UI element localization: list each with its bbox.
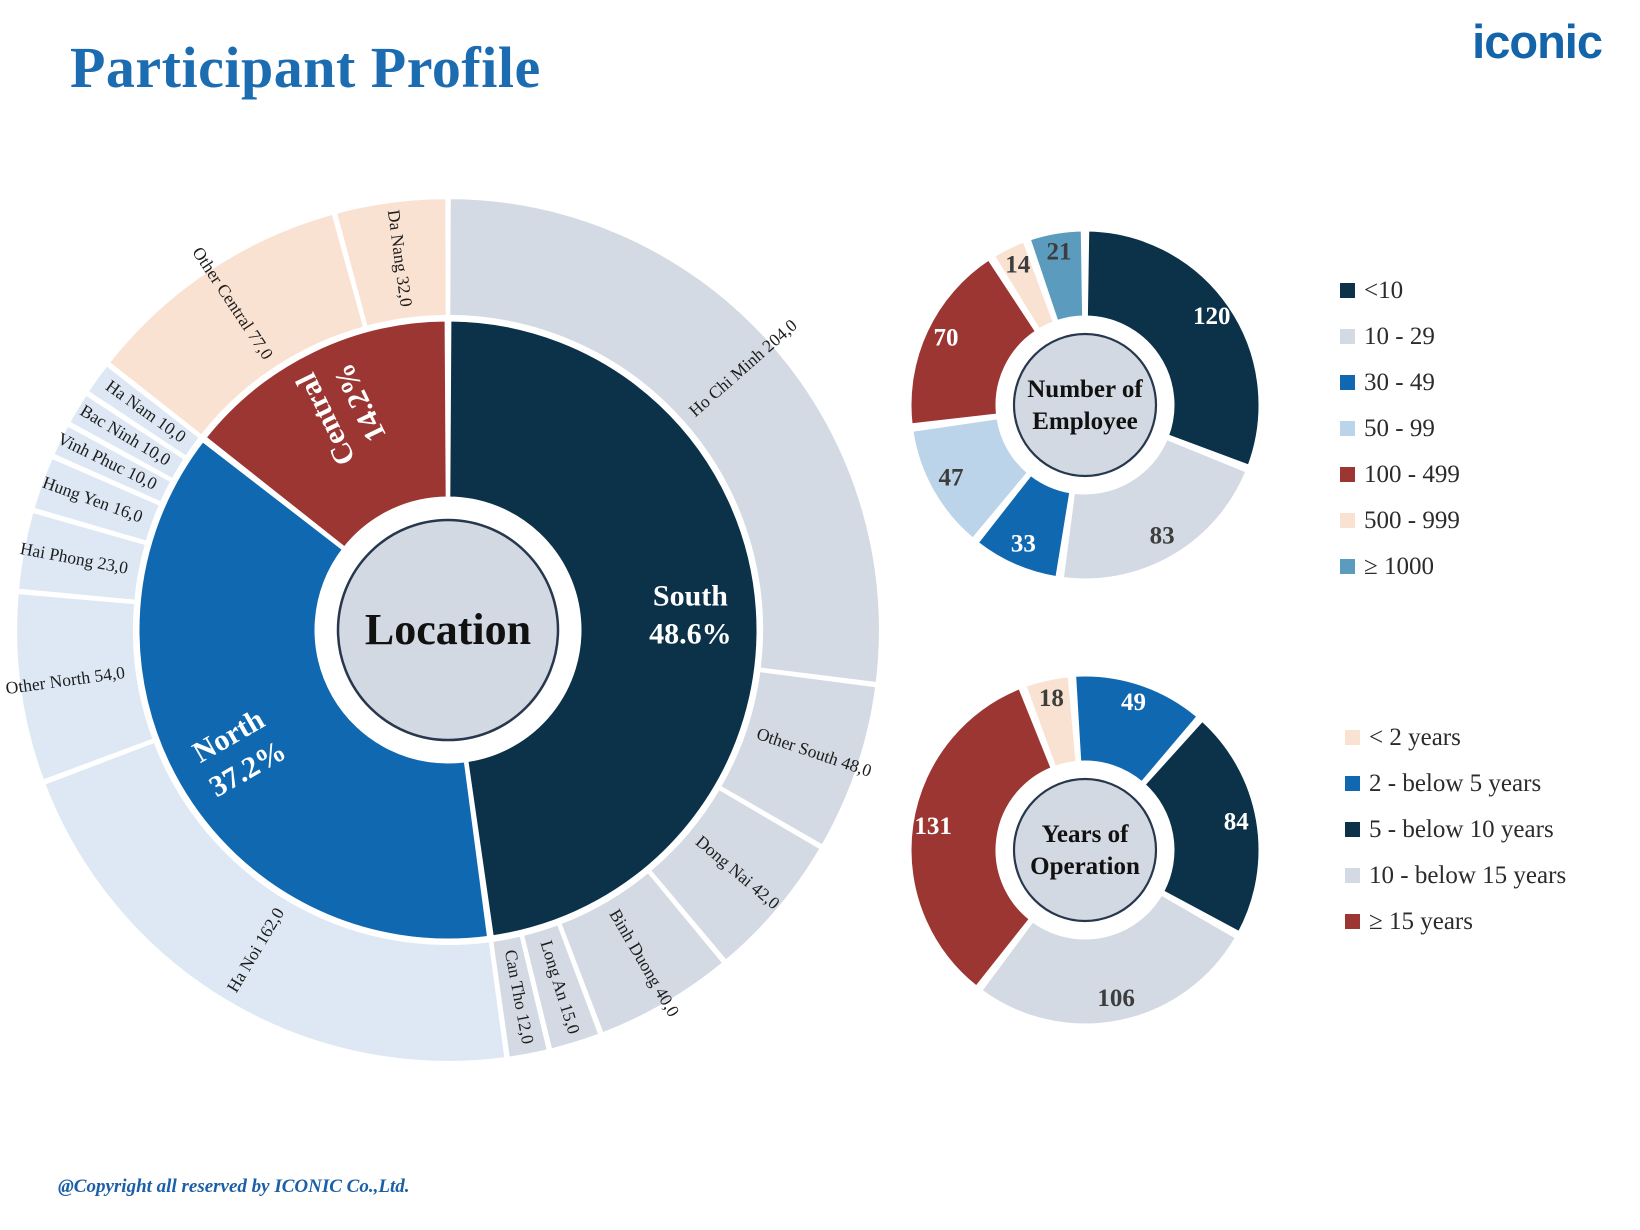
years-legend: < 2 years2 - below 5 years5 - below 10 y… — [1345, 725, 1566, 955]
donut-center-label-line2: Operation — [1030, 853, 1140, 880]
legend-item-label: 10 - below 15 years — [1369, 863, 1566, 888]
donut-value-label: 131 — [914, 813, 952, 840]
donut-value-label: 18 — [1039, 685, 1064, 712]
legend-item-label: 500 - 999 — [1364, 508, 1460, 533]
donut-center-label-line2: Employee — [1032, 408, 1138, 435]
legend-item-label: ≥ 1000 — [1364, 554, 1434, 579]
years-legend-item[interactable]: < 2 years — [1345, 725, 1566, 749]
employee-legend-item[interactable]: 10 - 29 — [1340, 324, 1460, 348]
legend-swatch-icon — [1345, 914, 1360, 929]
years-legend-item[interactable]: 2 - below 5 years — [1345, 771, 1566, 795]
years-legend-item[interactable]: 10 - below 15 years — [1345, 863, 1566, 887]
legend-swatch-icon — [1340, 467, 1355, 482]
copyright-note: @Copyright all reserved by ICONIC Co.,Lt… — [58, 1176, 409, 1198]
legend-item-label: ≥ 15 years — [1369, 909, 1473, 934]
legend-swatch-icon — [1340, 513, 1355, 528]
donut-hub — [1014, 334, 1156, 476]
donut-value-label: 70 — [933, 325, 958, 352]
legend-swatch-icon — [1345, 822, 1360, 837]
iconic-logo: iconic — [1472, 14, 1602, 69]
svg-text:South: South — [653, 579, 728, 612]
donut-value-label: 106 — [1097, 985, 1135, 1012]
donut-value-label: 33 — [1011, 530, 1036, 557]
donut-value-label: 120 — [1193, 303, 1231, 330]
employee-legend-item[interactable]: ≥ 1000 — [1340, 554, 1460, 578]
donut-value-label: 21 — [1047, 238, 1072, 265]
slide-root: Participant Profile iconic South48.6%Nor… — [0, 0, 1640, 1230]
donut-value-label: 84 — [1224, 808, 1250, 835]
legend-item-label: 2 - below 5 years — [1369, 771, 1541, 796]
years-of-operation-svg: 184984106131Years ofOperation — [885, 650, 1285, 1050]
svg-text:48.6%: 48.6% — [649, 617, 732, 650]
donut-value-label: 49 — [1121, 689, 1146, 716]
legend-swatch-icon — [1340, 559, 1355, 574]
legend-swatch-icon — [1340, 329, 1355, 344]
employee-legend-item[interactable]: 30 - 49 — [1340, 370, 1460, 394]
page-title: Participant Profile — [70, 34, 541, 101]
legend-swatch-icon — [1345, 730, 1360, 745]
years-legend-item[interactable]: 5 - below 10 years — [1345, 817, 1566, 841]
location-sunburst-chart: South48.6%North37.2%Central14.2%Ho Chi M… — [8, 190, 888, 1070]
number-of-employee-svg: 120833347701421Number ofEmployee — [885, 205, 1285, 605]
number-of-employee-chart: 120833347701421Number ofEmployee — [885, 205, 1285, 605]
donut-value-label: 83 — [1150, 522, 1175, 549]
years-legend-item[interactable]: ≥ 15 years — [1345, 909, 1566, 933]
legend-swatch-icon — [1340, 421, 1355, 436]
employee-legend-item[interactable]: 500 - 999 — [1340, 508, 1460, 532]
sunburst-center-label: Location — [365, 605, 531, 654]
legend-item-label: <10 — [1364, 278, 1403, 303]
legend-item-label: 50 - 99 — [1364, 416, 1435, 441]
employee-legend-item[interactable]: 50 - 99 — [1340, 416, 1460, 440]
donut-center-label-line1: Years of — [1042, 821, 1129, 848]
employee-legend: <1010 - 2930 - 4950 - 99100 - 499500 - 9… — [1340, 278, 1460, 600]
legend-item-label: < 2 years — [1369, 725, 1461, 750]
legend-item-label: 100 - 499 — [1364, 462, 1460, 487]
legend-swatch-icon — [1345, 776, 1360, 791]
location-sunburst-svg: South48.6%North37.2%Central14.2%Ho Chi M… — [8, 190, 888, 1070]
donut-hub — [1014, 779, 1156, 921]
donut-value-label: 14 — [1005, 252, 1031, 279]
legend-swatch-icon — [1340, 375, 1355, 390]
legend-item-label: 30 - 49 — [1364, 370, 1435, 395]
employee-legend-item[interactable]: 100 - 499 — [1340, 462, 1460, 486]
legend-swatch-icon — [1345, 868, 1360, 883]
legend-item-label: 10 - 29 — [1364, 324, 1435, 349]
donut-value-label: 47 — [939, 465, 964, 492]
employee-legend-item[interactable]: <10 — [1340, 278, 1460, 302]
donut-center-label-line1: Number of — [1027, 376, 1143, 403]
legend-swatch-icon — [1340, 283, 1355, 298]
legend-item-label: 5 - below 10 years — [1369, 817, 1554, 842]
years-of-operation-chart: 184984106131Years ofOperation — [885, 650, 1285, 1050]
